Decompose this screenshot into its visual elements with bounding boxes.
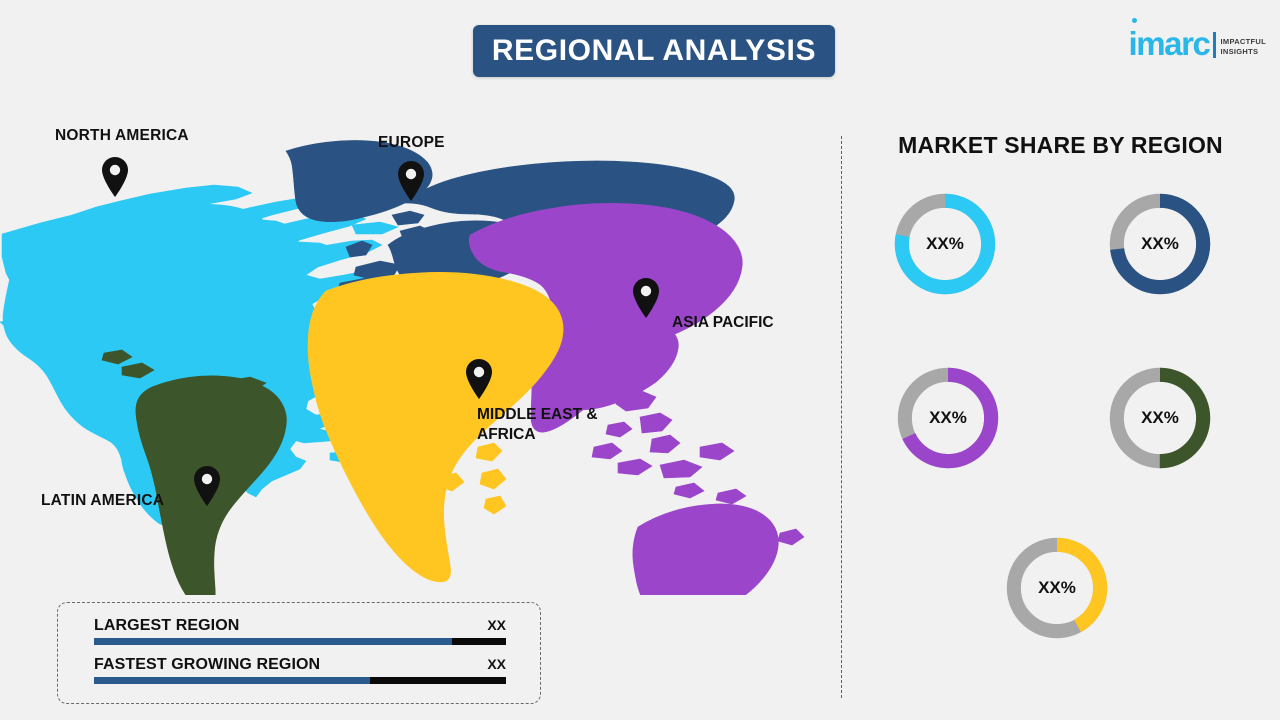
map-pin-latin-america[interactable] — [192, 465, 222, 507]
brand-wordmark-text: imarc — [1128, 25, 1209, 62]
brand-dot-icon — [1132, 18, 1137, 23]
legend-fill-fastest-growing-region — [94, 677, 370, 684]
map-pin-europe[interactable] — [396, 160, 426, 202]
map-label-middle-east-africa: MIDDLE EAST & AFRICA — [477, 405, 598, 445]
legend-box: LARGEST REGION XX FASTEST GROWING REGION… — [57, 602, 541, 704]
map-pin-north-america[interactable] — [100, 156, 130, 198]
map-label-europe: EUROPE — [378, 133, 445, 153]
map-label-north-america: NORTH AMERICA — [55, 126, 189, 146]
brand-tagline: IMPACTFUL INSIGHTS — [1221, 37, 1266, 57]
map-label-latin-america: LATIN AMERICA — [41, 491, 164, 511]
market-share-title: MARKET SHARE BY REGION — [841, 132, 1280, 159]
brand-divider — [1213, 32, 1216, 58]
donut-chart-latin-america: XX% — [1103, 361, 1217, 475]
legend-track-fastest-growing-region — [94, 677, 506, 684]
page-title: REGIONAL ANALYSIS — [492, 34, 816, 68]
donut-chart-middle-east-africa: XX% — [1000, 531, 1114, 645]
donut-chart-europe: XX% — [1103, 187, 1217, 301]
donut-value-north-america: XX% — [888, 187, 1002, 301]
page-title-banner: REGIONAL ANALYSIS — [473, 25, 835, 77]
donut-chart-asia-pacific: XX% — [891, 361, 1005, 475]
donut-value-europe: XX% — [1103, 187, 1217, 301]
map-pin-asia-pacific[interactable] — [631, 277, 661, 319]
donut-value-middle-east-africa: XX% — [1000, 531, 1114, 645]
legend-value-fastest-growing-region: XX — [487, 656, 506, 672]
legend-track-largest-region — [94, 638, 506, 645]
legend-value-largest-region: XX — [487, 617, 506, 633]
brand-logo: imarc IMPACTFUL INSIGHTS — [1128, 20, 1266, 60]
map-label-asia-pacific: ASIA PACIFIC — [672, 313, 774, 333]
donut-value-latin-america: XX% — [1103, 361, 1217, 475]
legend-row-largest-region: LARGEST REGION XX — [94, 617, 506, 645]
map-pin-middle-east-africa[interactable] — [464, 358, 494, 400]
donut-value-asia-pacific: XX% — [891, 361, 1005, 475]
legend-label-largest-region: LARGEST REGION — [94, 617, 239, 635]
legend-label-fastest-growing-region: FASTEST GROWING REGION — [94, 656, 320, 674]
legend-fill-largest-region — [94, 638, 452, 645]
brand-wordmark: imarc — [1128, 27, 1209, 60]
market-share-panel: MARKET SHARE BY REGION XX% XX% XX% XX% — [841, 120, 1280, 710]
brand-tagline-line1: IMPACTFUL — [1221, 37, 1266, 47]
donut-chart-north-america: XX% — [888, 187, 1002, 301]
legend-row-fastest-growing-region: FASTEST GROWING REGION XX — [94, 656, 506, 684]
brand-tagline-line2: INSIGHTS — [1221, 47, 1266, 57]
